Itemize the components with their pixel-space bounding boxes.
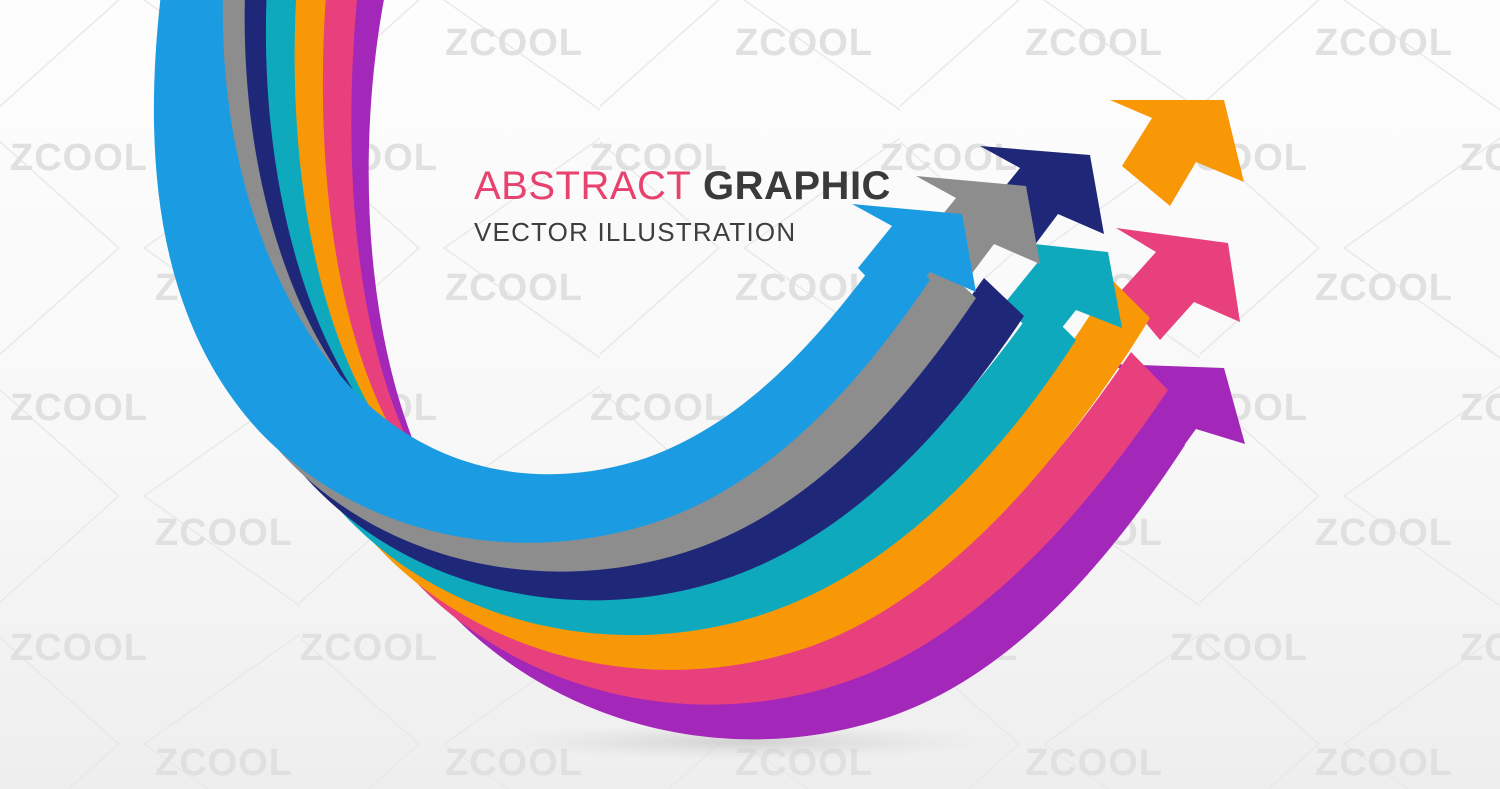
watermark-text: ZCOOL — [1315, 512, 1453, 554]
watermark-text: ZCOOL — [1460, 137, 1500, 179]
watermark-text: ZCOOL — [155, 742, 293, 784]
watermark-text: ZCOOL — [1315, 22, 1453, 64]
watermark-text: ZCOOL — [1315, 267, 1453, 309]
watermark-text: ZCOOL — [590, 387, 728, 429]
watermark-text: ZCOOL — [1170, 627, 1308, 669]
watermark-text: ZCOOL — [1025, 22, 1163, 64]
watermark-text: ZCOOL — [1460, 387, 1500, 429]
watermark-text: ZCOOL — [1025, 742, 1163, 784]
watermark-text: ZCOOL — [1315, 742, 1453, 784]
watermark-text: ZCOOL — [10, 137, 148, 179]
watermark-text: ZCOOL — [445, 22, 583, 64]
watermark-text: ZCOOL — [1460, 627, 1500, 669]
illustration-canvas: ZCOOLZCOOLZCOOLZCOOLZCOOLZCOOLZCOOLZCOOL… — [0, 0, 1500, 789]
watermark-text: ZCOOL — [300, 627, 438, 669]
watermark-text: ZCOOL — [10, 387, 148, 429]
abstract-arrows-artwork: ZCOOLZCOOLZCOOLZCOOLZCOOLZCOOLZCOOLZCOOL… — [0, 0, 1500, 789]
watermark-text: ZCOOL — [880, 137, 1018, 179]
watermark-text: ZCOOL — [155, 512, 293, 554]
title-word-graphic: GRAPHIC — [703, 164, 891, 208]
page-title: ABSTRACT GRAPHIC — [474, 166, 891, 206]
title-block: ABSTRACT GRAPHIC VECTOR ILLUSTRATION — [474, 166, 891, 245]
watermark-text: ZCOOL — [735, 22, 873, 64]
watermark-text: ZCOOL — [445, 267, 583, 309]
title-word-abstract: ABSTRACT — [474, 164, 691, 208]
watermark-text: ZCOOL — [10, 627, 148, 669]
page-subtitle: VECTOR ILLUSTRATION — [474, 219, 891, 245]
